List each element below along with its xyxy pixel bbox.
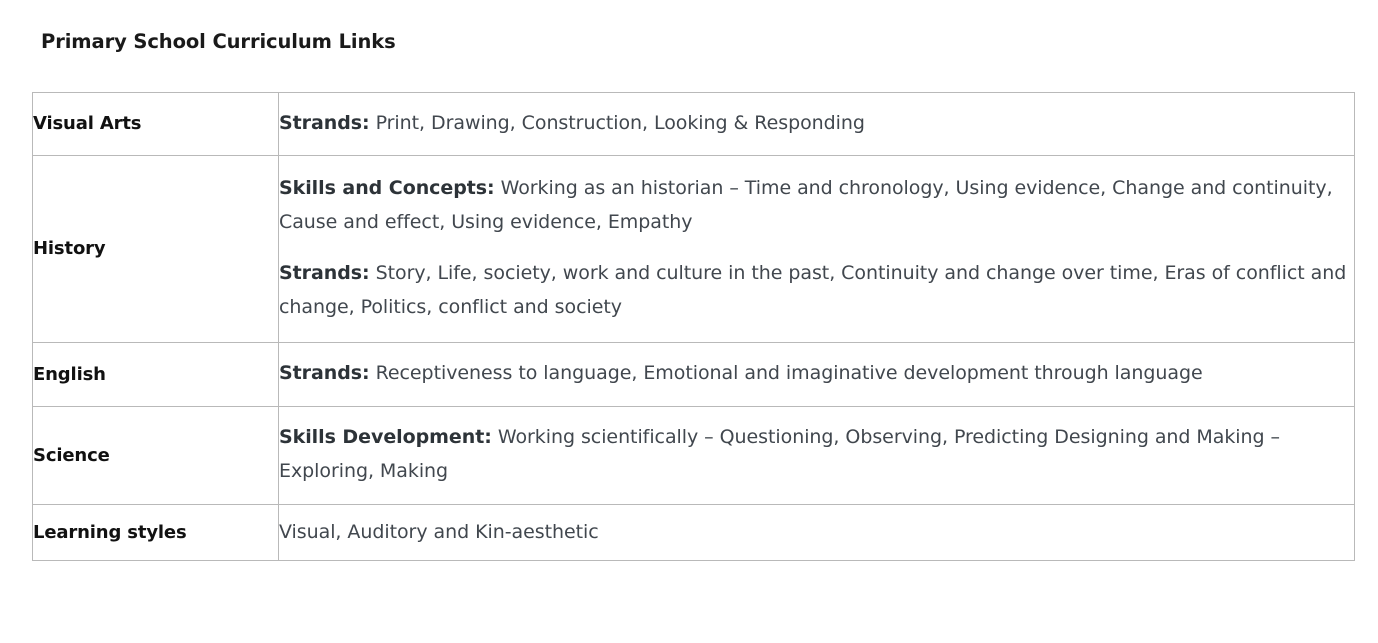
paragraph-lead: Strands: bbox=[279, 262, 370, 284]
subject-cell-history: History bbox=[33, 155, 279, 342]
paragraph-text: Story, Life, society, work and culture i… bbox=[279, 262, 1346, 318]
table-body: Visual Arts Strands: Print, Drawing, Con… bbox=[33, 93, 1355, 561]
subject-label: English bbox=[33, 364, 106, 385]
subject-cell-learning-styles: Learning styles bbox=[33, 504, 279, 561]
subject-label: Visual Arts bbox=[33, 113, 141, 134]
subject-cell-science: Science bbox=[33, 406, 279, 504]
subject-label: Learning styles bbox=[33, 522, 187, 543]
subject-label: Science bbox=[33, 445, 110, 466]
detail-cell-visual-arts: Strands: Print, Drawing, Construction, L… bbox=[279, 93, 1355, 156]
detail-paragraph: Strands: Receptiveness to language, Emot… bbox=[279, 357, 1354, 391]
table-row: History Skills and Concepts: Working as … bbox=[33, 155, 1355, 342]
detail-cell-english: Strands: Receptiveness to language, Emot… bbox=[279, 343, 1355, 407]
detail-cell-history: Skills and Concepts: Working as an histo… bbox=[279, 155, 1355, 342]
subject-cell-english: English bbox=[33, 343, 279, 407]
paragraph-text: Receptiveness to language, Emotional and… bbox=[370, 362, 1203, 384]
detail-paragraph: Skills Development: Working scientifical… bbox=[279, 421, 1354, 489]
detail-cell-science: Skills Development: Working scientifical… bbox=[279, 406, 1355, 504]
paragraph-lead: Skills Development: bbox=[279, 426, 492, 448]
paragraph-lead: Skills and Concepts: bbox=[279, 177, 495, 199]
table-row: Science Skills Development: Working scie… bbox=[33, 406, 1355, 504]
detail-cell-learning-styles: Visual, Auditory and Kin-aesthetic bbox=[279, 504, 1355, 561]
subject-cell-visual-arts: Visual Arts bbox=[33, 93, 279, 156]
paragraph-text: Visual, Auditory and Kin-aesthetic bbox=[279, 521, 599, 543]
detail-paragraph: Visual, Auditory and Kin-aesthetic bbox=[279, 516, 1354, 550]
detail-paragraph: Strands: Story, Life, society, work and … bbox=[279, 257, 1354, 325]
paragraph-lead: Strands: bbox=[279, 362, 370, 384]
detail-paragraph: Strands: Print, Drawing, Construction, L… bbox=[279, 107, 1354, 141]
table-row: English Strands: Receptiveness to langua… bbox=[33, 343, 1355, 407]
curriculum-page: Primary School Curriculum Links Visual A… bbox=[0, 0, 1378, 643]
table-row: Visual Arts Strands: Print, Drawing, Con… bbox=[33, 93, 1355, 156]
page-title: Primary School Curriculum Links bbox=[41, 30, 396, 53]
curriculum-links-table: Visual Arts Strands: Print, Drawing, Con… bbox=[32, 92, 1355, 561]
paragraph-lead: Strands: bbox=[279, 112, 370, 134]
paragraph-text: Print, Drawing, Construction, Looking & … bbox=[370, 112, 865, 134]
detail-paragraph: Skills and Concepts: Working as an histo… bbox=[279, 172, 1354, 240]
subject-label: History bbox=[33, 238, 105, 259]
table-row: Learning styles Visual, Auditory and Kin… bbox=[33, 504, 1355, 561]
